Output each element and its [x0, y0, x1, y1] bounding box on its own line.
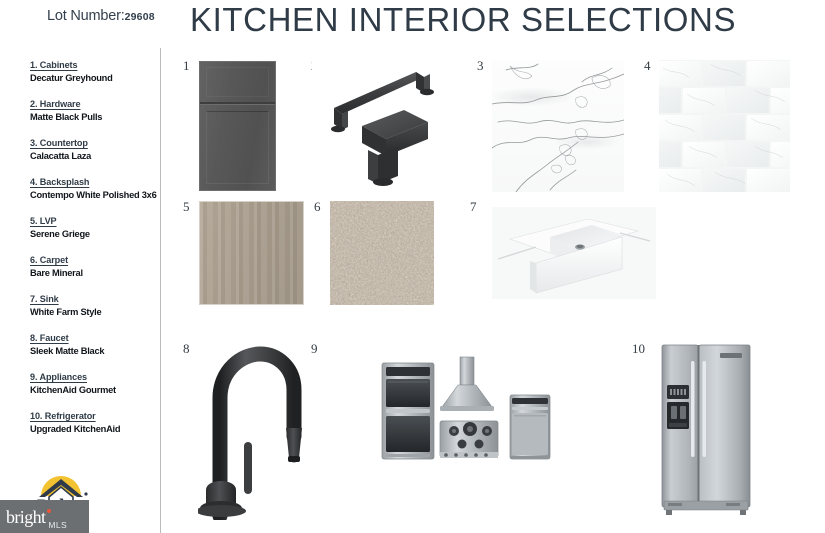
- page-title: KITCHEN INTERIOR SELECTIONS: [190, 1, 670, 39]
- lot-number-value: 29608: [125, 11, 155, 23]
- subway-tile-pattern: [659, 60, 790, 192]
- bright-mls-suffix: MLS: [48, 520, 67, 530]
- swatch-number-4: 4: [644, 58, 651, 74]
- sidebar-item-selection: Matte Black Pulls: [30, 112, 158, 122]
- pulldown-faucet-icon: [198, 340, 308, 520]
- farmhouse-sink-icon: [492, 207, 656, 299]
- swatch-number-3: 3: [477, 58, 484, 74]
- sidebar-item-lvp[interactable]: 5. LVP Serene Griege: [30, 216, 158, 239]
- cabinet-rail: [200, 102, 275, 104]
- sidebar-item-carpet[interactable]: 6. Carpet Bare Mineral: [30, 255, 158, 278]
- gas-cooktop-icon: [440, 421, 498, 458]
- lot-number-label: Lot Number:: [47, 8, 125, 24]
- swatch-number-10: 10: [632, 341, 645, 357]
- appliances-image[interactable]: [378, 355, 553, 465]
- square-knob-icon: [362, 110, 428, 186]
- swatch-number-6: 6: [314, 199, 321, 215]
- lvp-flooring-swatch[interactable]: [199, 201, 304, 305]
- page-header: Lot Number:29608 KITCHEN INTERIOR SELECT…: [0, 0, 825, 48]
- sidebar-item-selection: Serene Griege: [30, 229, 158, 239]
- bright-mls-dot: [47, 509, 51, 513]
- swatch-number-9: 9: [311, 341, 318, 357]
- wall-oven-icon: [382, 363, 434, 459]
- carpet-swatch[interactable]: [330, 201, 434, 305]
- carpet-texture: [330, 201, 434, 305]
- sidebar-item-backsplash[interactable]: 4. Backsplash Contempo White Polished 3x…: [30, 177, 158, 200]
- cabinet-door-panel: [206, 111, 269, 184]
- refrigerator-image[interactable]: [660, 343, 752, 518]
- swatch-number-7: 7: [470, 199, 477, 215]
- sidebar-item-heading: 8. Faucet: [30, 333, 158, 343]
- backsplash-tile-swatch[interactable]: [659, 60, 790, 192]
- sidebar-item-heading: 4. Backsplash: [30, 177, 158, 187]
- sidebar-item-countertop[interactable]: 3. Countertop Calacatta Laza: [30, 138, 158, 161]
- sidebar-item-faucet[interactable]: 8. Faucet Sleek Matte Black: [30, 333, 158, 356]
- sink-image[interactable]: [492, 207, 656, 299]
- hardware-pulls-image[interactable]: [312, 60, 462, 192]
- countertop-marble-swatch[interactable]: [492, 60, 624, 192]
- sidebar-item-heading: 2. Hardware: [30, 99, 158, 109]
- sidebar-item-refrigerator[interactable]: 10. Refrigerator Upgraded KitchenAid: [30, 411, 158, 434]
- sidebar-item-selection: Upgraded KitchenAid: [30, 424, 158, 434]
- sidebar-item-sink[interactable]: 7. Sink White Farm Style: [30, 294, 158, 317]
- selections-legend: 1. Cabinets Decatur Greyhound 2. Hardwar…: [0, 55, 158, 475]
- sidebar-item-heading: 6. Carpet: [30, 255, 158, 265]
- sidebar-item-selection: Bare Mineral: [30, 268, 158, 278]
- bright-mls-brand: bright: [6, 508, 45, 526]
- sidebar-item-heading: 9. Appliances: [30, 372, 158, 382]
- sidebar-item-selection: Calacatta Laza: [30, 151, 158, 161]
- bright-mls-watermark: bright MLS: [0, 500, 89, 533]
- sidebar-item-heading: 10. Refrigerator: [30, 411, 158, 421]
- sidebar-item-appliances[interactable]: 9. Appliances KitchenAid Gourmet: [30, 372, 158, 395]
- sidebar-item-heading: 1. Cabinets: [30, 60, 158, 70]
- sidebar-item-heading: 3. Countertop: [30, 138, 158, 148]
- sidebar-item-selection: Contempo White Polished 3x6: [30, 190, 158, 200]
- hardware-svg: [312, 60, 462, 192]
- swatch-number-5: 5: [183, 199, 190, 215]
- appliance-suite-icons: [378, 355, 553, 465]
- sidebar-item-selection: Decatur Greyhound: [30, 73, 158, 83]
- cabinet-drawer-panel: [206, 67, 269, 97]
- cabinet-door-swatch[interactable]: [199, 61, 276, 191]
- sidebar-item-selection: KitchenAid Gourmet: [30, 385, 158, 395]
- sidebar-item-selection: White Farm Style: [30, 307, 158, 317]
- range-hood-icon: [440, 357, 494, 411]
- sidebar-item-hardware[interactable]: 2. Hardware Matte Black Pulls: [30, 99, 158, 122]
- sidebar-item-cabinets[interactable]: 1. Cabinets Decatur Greyhound: [30, 60, 158, 83]
- sidebar-item-heading: 7. Sink: [30, 294, 158, 304]
- sidebar-item-selection: Sleek Matte Black: [30, 346, 158, 356]
- faucet-image[interactable]: [198, 340, 308, 520]
- marble-veining: [492, 60, 624, 192]
- dishwasher-icon: [510, 395, 550, 459]
- vertical-divider: [160, 48, 161, 533]
- swatch-number-1: 1: [183, 58, 190, 74]
- sidebar-item-heading: 5. LVP: [30, 216, 158, 226]
- side-by-side-refrigerator-icon: [660, 343, 752, 518]
- lot-number: Lot Number:29608: [47, 8, 155, 24]
- swatch-number-8: 8: [183, 341, 190, 357]
